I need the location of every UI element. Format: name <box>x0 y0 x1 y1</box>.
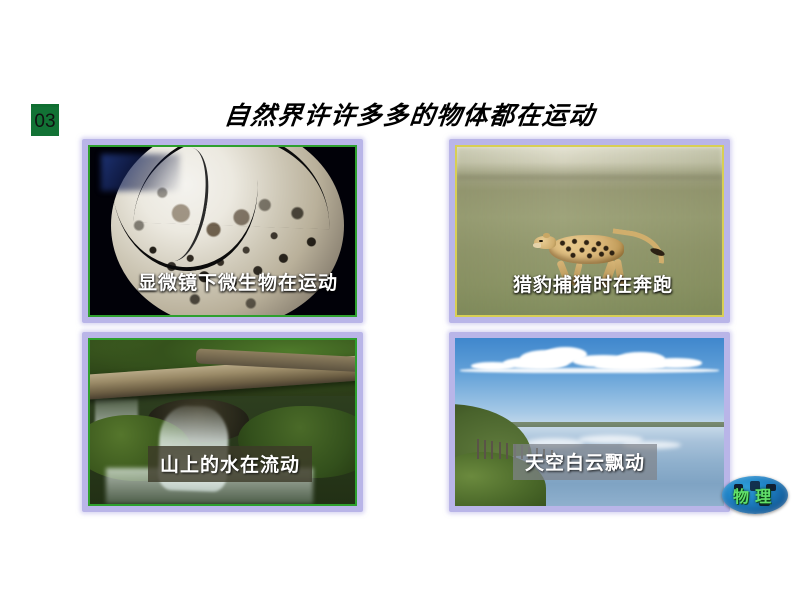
caption-cheetah: 猎豹捕猎时在奔跑 <box>513 270 673 297</box>
page-title: 自然界许许多多的物体都在运动 <box>198 96 622 132</box>
photo-stream: 山上的水在流动 <box>88 338 357 506</box>
photo-microscope: 显微镜下微生物在运动 <box>88 145 357 317</box>
slide-number-text: 03 <box>34 112 55 131</box>
physics-logo[interactable]: 物理 <box>722 476 788 514</box>
panel-sky[interactable]: 天空白云飘动 <box>449 332 730 512</box>
cheetah-body <box>549 235 624 265</box>
horizon-line <box>457 176 722 179</box>
caption-stream: 山上的水在流动 <box>148 446 312 482</box>
microscope-lens-glint <box>101 154 181 191</box>
cheetah-spots <box>549 235 624 265</box>
cloud <box>460 368 718 373</box>
slide-canvas: 03 自然界许许多多的物体都在运动 显微镜下微生物在运动 <box>0 0 800 600</box>
fence-post <box>499 442 501 459</box>
cheetah-muzzle <box>533 243 542 248</box>
logo-text: 物理 <box>722 483 788 507</box>
slide-number-badge: 03 <box>31 104 59 136</box>
cheetah-eye <box>539 240 543 242</box>
caption-microscope: 显微镜下微生物在运动 <box>138 268 338 295</box>
fence-post <box>506 443 508 459</box>
panel-microscope[interactable]: 显微镜下微生物在运动 <box>82 139 363 323</box>
photo-cheetah: 猎豹捕猎时在奔跑 <box>455 145 724 317</box>
caption-sky: 天空白云飘动 <box>513 444 657 480</box>
fence-post <box>484 440 486 459</box>
panel-stream[interactable]: 山上的水在流动 <box>82 332 363 512</box>
cheetah-ear <box>543 233 550 238</box>
fence-post <box>491 441 493 459</box>
fence-post <box>477 439 479 459</box>
panel-cheetah[interactable]: 猎豹捕猎时在奔跑 <box>449 139 730 323</box>
photo-sky: 天空白云飘动 <box>455 338 724 506</box>
